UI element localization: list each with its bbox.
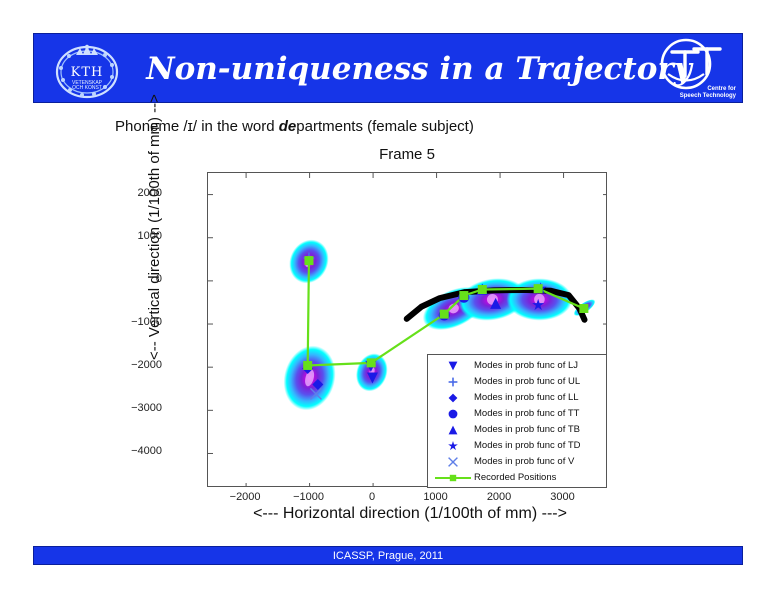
legend-marker-plus-icon <box>432 374 474 390</box>
x-tick-label: 2000 <box>469 491 529 503</box>
legend-marker-diamond-icon <box>432 390 474 406</box>
x-tick-label: 3000 <box>533 491 593 503</box>
y-tick-label: 2000 <box>102 187 162 199</box>
x-tick-label: −1000 <box>279 491 339 503</box>
legend-marker-star-icon <box>432 438 474 454</box>
y-tick-label: 1000 <box>102 230 162 242</box>
recorded-position-marker <box>579 304 588 313</box>
legend-marker-circle-icon <box>432 406 474 422</box>
legend-row[interactable]: Modes in prob func of V <box>428 454 606 470</box>
footer-bar: ICASSP, Prague, 2011 <box>33 546 743 565</box>
y-tick-label: 0 <box>102 273 162 285</box>
recorded-position-marker <box>534 284 543 293</box>
y-tick-label: −4000 <box>102 445 162 457</box>
legend-label: Modes in prob func of TB <box>474 422 580 438</box>
legend-row[interactable]: Modes in prob func of TD <box>428 438 606 454</box>
legend-marker-square-line-icon <box>432 470 474 486</box>
footer-text: ICASSP, Prague, 2011 <box>333 550 443 562</box>
legend-label: Modes in prob func of TD <box>474 438 581 454</box>
slide-root: KTH VETENSKAP OCH KONST Non-uniqueness i… <box>0 0 776 600</box>
recorded-position-marker <box>304 256 313 265</box>
legend-row[interactable]: Modes in prob func of TT <box>428 406 606 422</box>
legend-label: Modes in prob func of UL <box>474 374 580 390</box>
recorded-position-marker <box>303 361 312 370</box>
legend-row[interactable]: Modes in prob func of UL <box>428 374 606 390</box>
x-tick-label: 0 <box>342 491 402 503</box>
legend-row[interactable]: Recorded Positions <box>428 470 606 486</box>
x-tick-label: −2000 <box>215 491 275 503</box>
legend-row[interactable]: Modes in prob func of LL <box>428 390 606 406</box>
legend-label: Modes in prob func of LJ <box>474 358 578 374</box>
recorded-position-marker <box>459 291 468 300</box>
plot-legend[interactable]: Modes in prob func of LJModes in prob fu… <box>427 354 607 488</box>
recorded-position-marker <box>478 285 487 294</box>
legend-label: Modes in prob func of LL <box>474 390 579 406</box>
x-tick-label: 1000 <box>406 491 466 503</box>
legend-marker-triangle-down-icon <box>432 358 474 374</box>
y-tick-label: −3000 <box>102 402 162 414</box>
recorded-position-marker <box>367 358 376 367</box>
legend-marker-triangle-up-icon <box>432 422 474 438</box>
legend-row[interactable]: Modes in prob func of LJ <box>428 358 606 374</box>
legend-row[interactable]: Modes in prob func of TB <box>428 422 606 438</box>
y-tick-label: −2000 <box>102 359 162 371</box>
legend-label: Modes in prob func of TT <box>474 406 579 422</box>
legend-label: Recorded Positions <box>474 470 556 486</box>
y-tick-label: −1000 <box>102 316 162 328</box>
legend-label: Modes in prob func of V <box>474 454 574 470</box>
recorded-position-marker <box>440 310 449 319</box>
x-axis-label: <--- Horizontal direction (1/100th of mm… <box>150 505 670 523</box>
legend-marker-x-icon <box>432 454 474 470</box>
